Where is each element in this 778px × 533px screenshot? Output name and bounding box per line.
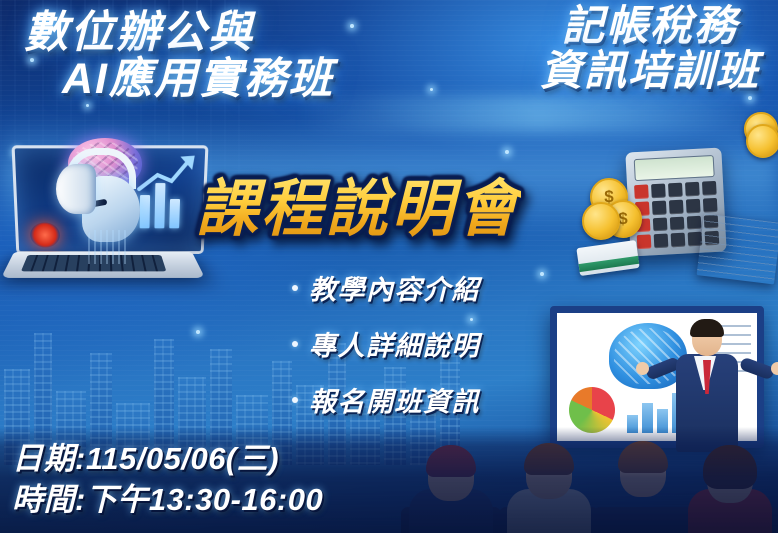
course-title-left-line1: 數位辦公與 bbox=[24, 10, 334, 57]
event-time: 時間:下午13:30-16:00 bbox=[12, 480, 323, 521]
course-title-right: 記帳稅務 資訊培訓班 bbox=[540, 4, 760, 93]
bullet-dot-icon bbox=[292, 285, 298, 291]
bullet-label: 報名開班資訊 bbox=[309, 380, 480, 419]
coin-plain bbox=[582, 202, 620, 240]
bullet-dot-icon bbox=[292, 397, 298, 403]
bullet-item: 教學內容介紹 bbox=[292, 268, 480, 307]
cyan-glow-streak bbox=[300, 96, 778, 132]
event-date: 日期:115/05/06(三) bbox=[12, 439, 323, 480]
bullet-label: 專人詳細說明 bbox=[309, 324, 480, 363]
course-title-left-line2: AI應用實務班 bbox=[62, 57, 334, 103]
bullet-item: 報名開班資訊 bbox=[292, 380, 480, 419]
presenter-left-hand bbox=[636, 362, 649, 375]
finance-illustration: $ $ bbox=[574, 136, 774, 276]
bullet-label: 教學內容介紹 bbox=[309, 268, 480, 307]
promotional-banner: $ $ bbox=[0, 0, 778, 533]
course-title-right-line1: 記帳稅務 bbox=[540, 4, 760, 49]
ai-robot-head bbox=[54, 138, 150, 250]
bullet-item: 專人詳細說明 bbox=[292, 324, 480, 363]
presenter-hair bbox=[690, 319, 724, 337]
feature-bullet-list: 教學內容介紹 專人詳細說明 報名開班資訊 bbox=[292, 268, 480, 436]
course-title-left: 數位辦公與 AI應用實務班 bbox=[24, 10, 334, 102]
event-info-bar: 日期:115/05/06(三) 時間:下午13:30-16:00 bbox=[0, 427, 778, 533]
coin-stack bbox=[744, 112, 778, 158]
headphone-earcup bbox=[56, 164, 96, 214]
robot-neck bbox=[88, 230, 130, 264]
course-title-right-line2: 資訊培訓班 bbox=[540, 49, 760, 94]
bullet-dot-icon bbox=[292, 341, 298, 347]
documents-graphic bbox=[697, 213, 778, 284]
gold-coins-graphic: $ $ bbox=[582, 178, 646, 240]
main-headline: 課程說明會 bbox=[196, 158, 521, 248]
presenter-right-hand bbox=[771, 362, 778, 375]
cash-stack-graphic bbox=[576, 240, 639, 276]
event-info-text: 日期:115/05/06(三) 時間:下午13:30-16:00 bbox=[12, 439, 323, 521]
